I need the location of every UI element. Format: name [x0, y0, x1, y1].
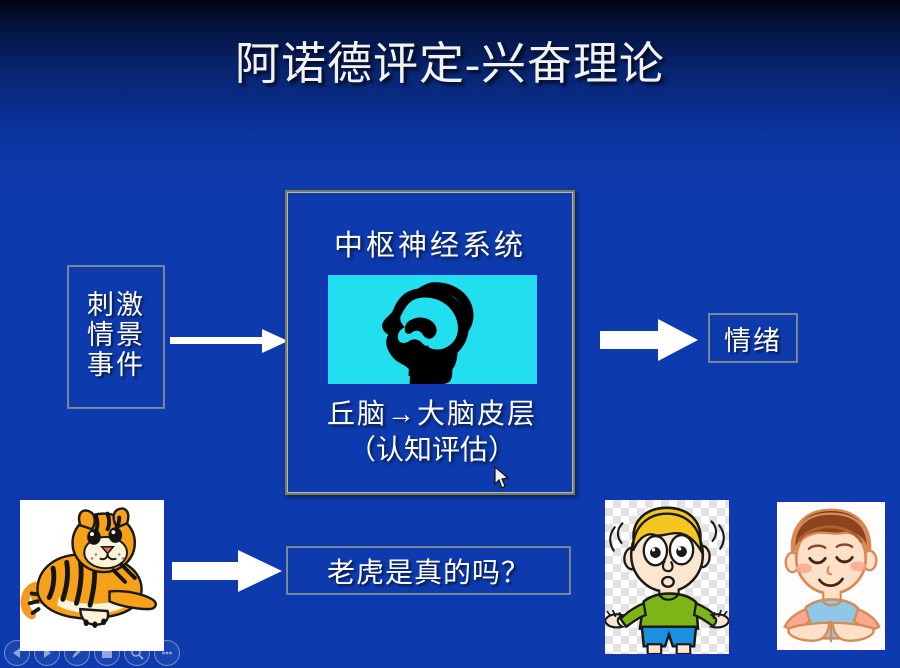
- playback-toolbar[interactable]: [4, 640, 180, 666]
- cns-title: 中枢神经系统: [287, 222, 573, 264]
- page-title: 阿诺德评定-兴奋理论: [0, 38, 900, 91]
- question-label: 老虎是真的吗？: [327, 551, 530, 591]
- question-box: 老虎是真的吗？: [287, 547, 570, 594]
- calm-boy-clipart: [775, 500, 887, 652]
- more-options-button[interactable]: [154, 640, 180, 666]
- pen-button[interactable]: [64, 640, 90, 666]
- zoom-button[interactable]: [124, 640, 150, 666]
- stimulus-line-3: 事件: [87, 351, 145, 381]
- stimulus-box: 刺激 情景 事件: [68, 266, 164, 408]
- central-nervous-system-panel: 中枢神经系统: [285, 190, 575, 495]
- arrow-tiger-to-question: [172, 549, 282, 593]
- cns-pathway-line-1: 丘脑→大脑皮层: [287, 397, 577, 433]
- stimulus-line-1: 刺激: [87, 291, 145, 321]
- emotion-box: 情绪: [709, 314, 797, 362]
- stimulus-line-2: 情景: [87, 321, 145, 351]
- next-button[interactable]: [34, 640, 60, 666]
- emotion-label: 情绪: [724, 319, 782, 358]
- cns-pathway-text: 丘脑→大脑皮层 （认知评估）: [287, 397, 577, 469]
- tiger-clipart: [18, 498, 166, 653]
- previous-button[interactable]: [4, 640, 30, 666]
- slide-canvas: 阿诺德评定-兴奋理论 刺激 情景 事件 中枢神经系统: [0, 0, 900, 668]
- arrow-stimulus-to-cns: [170, 326, 288, 356]
- cns-pathway-line-2: （认知评估）: [287, 433, 577, 469]
- save-button[interactable]: [94, 640, 120, 666]
- scared-boy-clipart: [603, 498, 731, 656]
- brain-head-silhouette-icon: [325, 272, 540, 387]
- arrow-cns-to-emotion: [600, 318, 698, 362]
